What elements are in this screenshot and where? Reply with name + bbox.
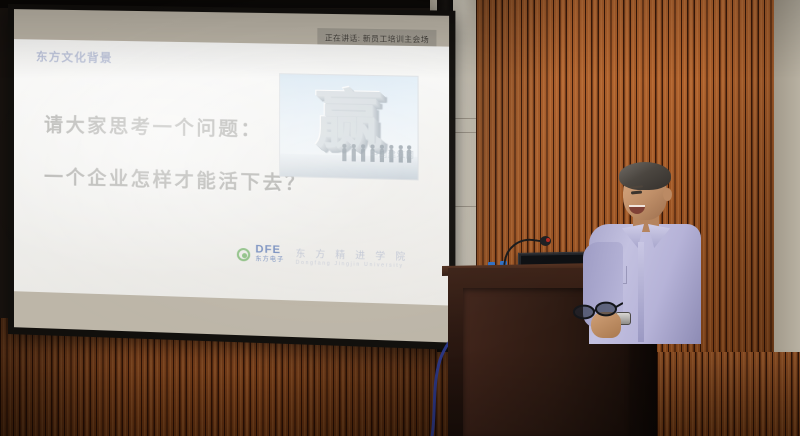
lecture-hall-scene: 正在讲话: 新员工培训主会场 东方文化背景 请大家思考一个问题： 一个企业怎样才… <box>0 0 800 436</box>
dfe-leaf-icon <box>237 247 250 261</box>
slide-body-line-2: 一个企业怎样才能活下去？ <box>44 162 307 196</box>
slide-image: 赢 中国建筑网 <box>280 74 417 179</box>
slide-footer-logo: DFE 东方电子 东 方 精 进 学 院 Dongfang Jingjin Un… <box>237 244 409 270</box>
dfe-brand-block: DFE 东方电子 <box>255 245 284 266</box>
dfe-abbr: DFE <box>255 245 284 257</box>
institute-block: 东 方 精 进 学 院 Dongfang Jingjin University <box>296 246 409 270</box>
presenter-ear <box>663 188 672 201</box>
dfe-brand-cn: 东方电子 <box>255 256 284 265</box>
slide-body-line-1: 请大家思考一个问题： <box>44 110 263 142</box>
image-watermark: 中国建筑网 <box>370 149 414 161</box>
eyeglasses-icon <box>571 298 623 324</box>
presenter <box>575 162 710 342</box>
projection-screen: 正在讲话: 新员工培训主会场 东方文化背景 请大家思考一个问题： 一个企业怎样才… <box>8 4 455 350</box>
microphone-head-icon <box>540 236 551 246</box>
presentation-slide: 东方文化背景 请大家思考一个问题： 一个企业怎样才能活下去？ 赢 中国建筑网 <box>14 39 449 305</box>
shirt-placket <box>638 242 644 342</box>
slide-title: 东方文化背景 <box>36 48 113 65</box>
presenter-hair <box>619 162 671 190</box>
projection-screen-surface: 正在讲话: 新员工培训主会场 东方文化背景 请大家思考一个问题： 一个企业怎样才… <box>14 9 449 342</box>
